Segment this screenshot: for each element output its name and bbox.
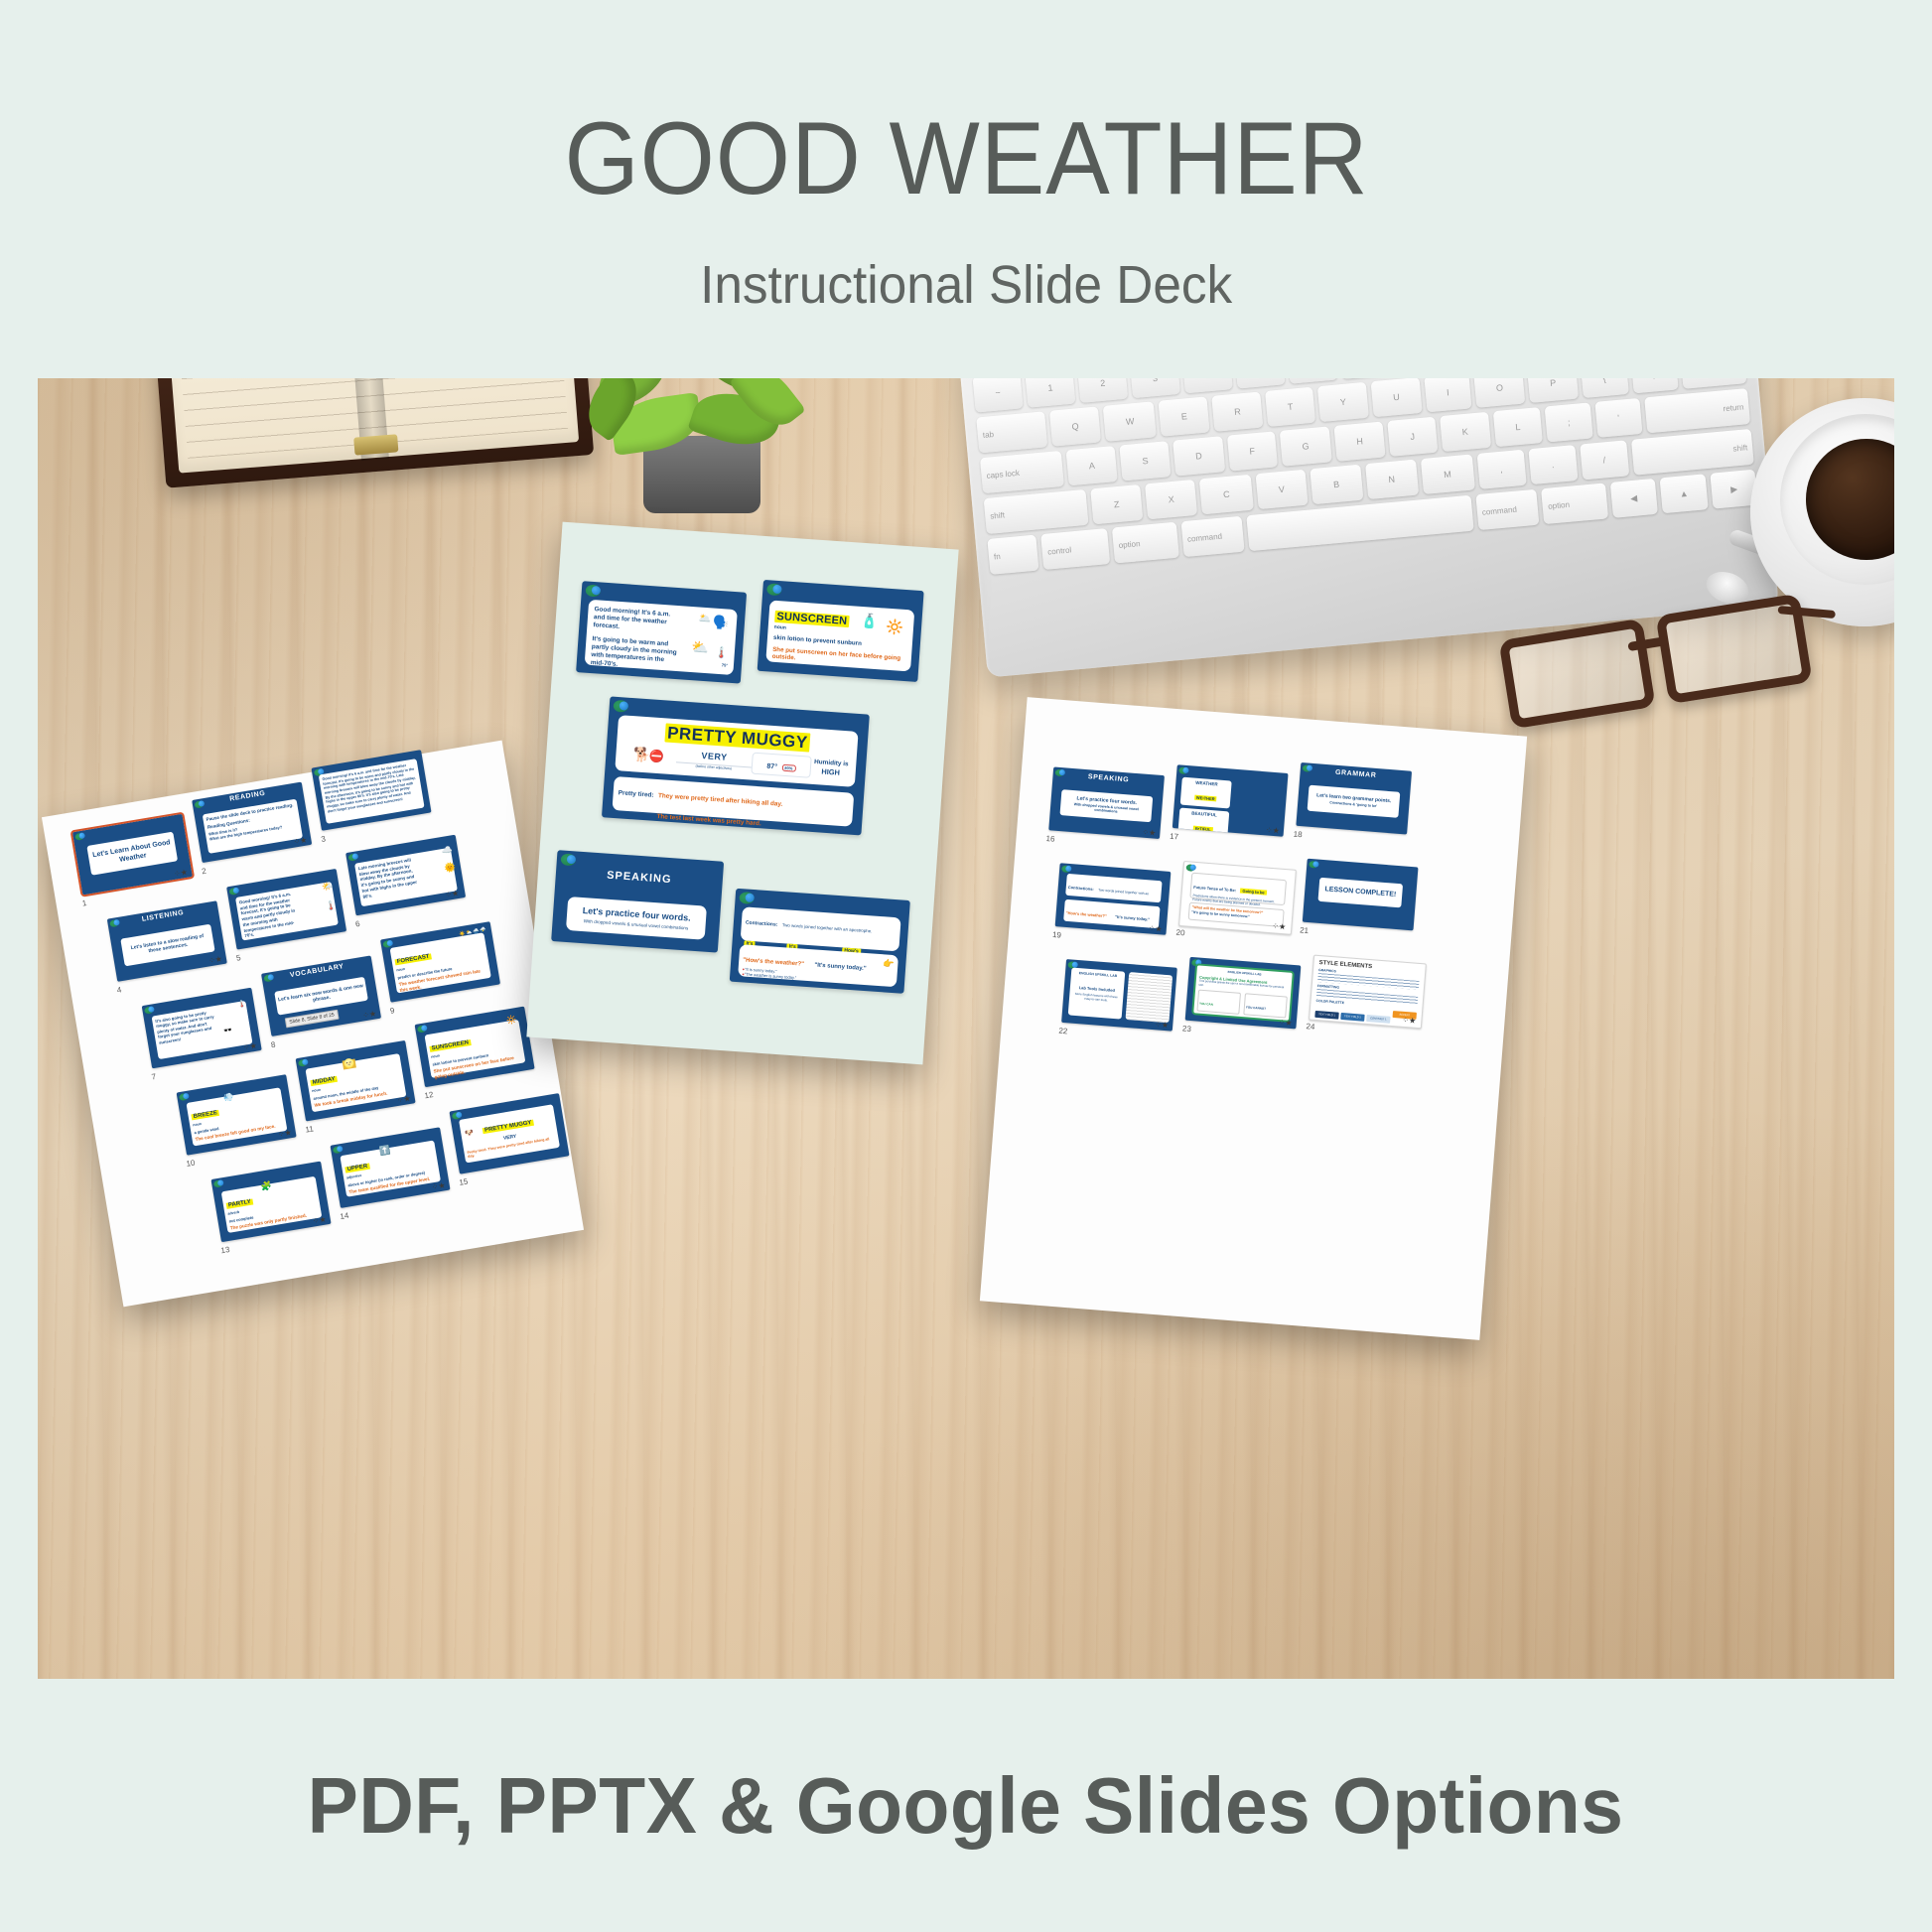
key-s[interactable]: S: [1120, 441, 1172, 481]
key-a[interactable]: A: [1066, 446, 1118, 485]
key-z[interactable]: Z: [1090, 484, 1143, 524]
thermometer-icon: 🌡️: [715, 646, 730, 660]
slide-number-1: 1: [81, 898, 87, 908]
logo-badge-icon: [452, 1111, 462, 1119]
no-sun-icon: 🔆: [886, 619, 904, 636]
slide-number-21: 21: [1300, 925, 1310, 935]
logo-badge-icon: [1061, 865, 1071, 873]
up-arrow-icon: ⬆️: [378, 1146, 391, 1157]
slide-22-star-icon: ⁘★: [1155, 1020, 1170, 1030]
slide-17-pron-2: B•TIFUL: [1193, 825, 1213, 832]
thumbnail-slide-4[interactable]: LISTENING Let's listen to a slow reading…: [107, 900, 227, 982]
key-j[interactable]: J: [1388, 417, 1438, 457]
logo-badge-icon: [561, 853, 577, 866]
slide-number-23: 23: [1182, 1024, 1192, 1034]
thumbnail-slide-5[interactable]: Good morning! It's 6 a.m. and time for t…: [226, 869, 346, 950]
slide-6-body: Late morning breezes will blow away the …: [357, 856, 423, 899]
slide-number-4: 4: [116, 985, 122, 995]
key-p[interactable]: P: [1527, 378, 1579, 403]
slide-number-17: 17: [1170, 832, 1179, 842]
logo-badge-icon: [213, 1179, 223, 1187]
thumbnail-slide-7[interactable]: It's also going to be pretty muggy, so m…: [142, 988, 262, 1069]
lotion-bottle-icon: 🧴: [860, 613, 879, 630]
pretty-muggy-temp: 87°: [766, 763, 777, 771]
pretty-hard-label: Pretty hard:: [617, 810, 652, 819]
page-header: GOOD WEATHER Instructional Slide Deck: [0, 0, 1932, 385]
weather-presenter-icon: 🗣️: [712, 614, 729, 630]
slide-number-24: 24: [1306, 1022, 1315, 1032]
slide-number-11: 11: [305, 1124, 315, 1134]
center-slide-contractions[interactable]: Contractions: Two words joined together …: [730, 889, 910, 994]
slide-number-15: 15: [459, 1176, 469, 1186]
slide-19-answer: "It's sunny today.": [1115, 914, 1150, 922]
printed-sheet-right[interactable]: SPEAKING Let's practice four words. With…: [980, 697, 1527, 1340]
slide-number-20: 20: [1175, 928, 1185, 938]
slide-number-22: 22: [1058, 1027, 1068, 1036]
slide-17-star-icon: ⁘★: [1266, 825, 1281, 835]
key-caps-lock[interactable]: caps lock: [980, 451, 1064, 493]
logo-badge-icon: [298, 1058, 308, 1066]
slide-19-question: "How's the weather?": [1066, 910, 1107, 918]
logo-badge-icon: [347, 853, 357, 861]
key-bracket-left[interactable]: {: [1581, 378, 1629, 398]
slide-number-13: 13: [220, 1245, 230, 1255]
cloud-icon: ☁️: [441, 845, 454, 856]
slide-7-body: It's also going to be pretty muggy, so m…: [155, 1009, 217, 1045]
slide-number-3: 3: [321, 834, 327, 844]
key-7[interactable]: 7: [1339, 378, 1390, 379]
contractions-answer: "It's sunny today.": [814, 962, 867, 972]
center-slide-forecast-script[interactable]: Good morning! It's 6 a.m. and time for t…: [576, 581, 747, 683]
key-shift-left[interactable]: shift: [984, 489, 1089, 534]
key-option-left[interactable]: option: [1112, 522, 1179, 564]
pretty-tired-label: Pretty tired:: [618, 789, 653, 798]
key-arrow-left-icon[interactable]: ◀: [1610, 479, 1658, 518]
thumbnail-slide-3[interactable]: Good morning! It's 6 a.m. and time for t…: [312, 750, 432, 831]
center-slide-pretty-muggy[interactable]: PRETTY MUGGY 🐕 ⛔ VERY (before other adje…: [602, 696, 870, 835]
key-h[interactable]: H: [1333, 421, 1385, 461]
key-command-right[interactable]: command: [1475, 489, 1540, 530]
key-control[interactable]: control: [1041, 528, 1111, 570]
slide-23-col1-heading: YOU CAN: [1199, 1002, 1213, 1007]
key-1[interactable]: 1: [1026, 378, 1076, 408]
sun-cloud-icon: ⛅: [691, 638, 710, 656]
key-n[interactable]: N: [1365, 460, 1419, 499]
key-d[interactable]: D: [1173, 436, 1224, 476]
pretty-muggy-humidity-pct: 80%: [781, 764, 795, 772]
slide-11-word: MIDDAY: [310, 1076, 338, 1086]
slide-14-word: UPPER: [345, 1164, 369, 1173]
logo-badge-icon: [1309, 860, 1318, 868]
logo-badge-icon: [1186, 864, 1196, 872]
thumbnail-slide-14[interactable]: UPPER adjective above or higher (in rank…: [331, 1127, 451, 1208]
pointing-hand-icon: 👉: [883, 958, 895, 970]
slide-number-7: 7: [151, 1072, 157, 1082]
key-m[interactable]: M: [1420, 454, 1474, 494]
key-backslash[interactable]: |: [1681, 378, 1747, 389]
dog-sunhat-icon: 🐶: [465, 1130, 475, 1138]
speaking-title: SPEAKING: [556, 866, 723, 890]
key-w[interactable]: W: [1103, 401, 1157, 441]
thumbnail-slide-10[interactable]: BREEZE noun a gentle wind The cool breez…: [177, 1074, 297, 1156]
slide-number-18: 18: [1293, 830, 1303, 840]
key-e[interactable]: E: [1159, 396, 1210, 436]
slide-16-title: SPEAKING: [1052, 770, 1164, 786]
slide-number-16: 16: [1045, 834, 1055, 844]
page-subtitle: Instructional Slide Deck: [700, 254, 1232, 316]
printed-sheet-left[interactable]: Let's Learn About Good Weather 1 ⁘★ READ…: [42, 741, 584, 1308]
slide-19-star-icon: ⁘★: [1148, 923, 1163, 933]
logo-badge-icon: [382, 939, 392, 947]
logo-badge-icon: [333, 1145, 343, 1153]
slide-17-word-1: WEATHER: [1183, 779, 1229, 788]
thermometer-icon: 🌡️: [325, 901, 338, 912]
logo-badge-icon: [417, 1025, 427, 1033]
key-command-left[interactable]: command: [1180, 516, 1245, 557]
slide-24-swatch-1: TEXT FIELD 1: [1314, 1011, 1338, 1020]
center-slide-speaking[interactable]: SPEAKING Let's practice four words. With…: [551, 850, 724, 952]
key-tab[interactable]: tab: [976, 411, 1047, 453]
no-entry-icon: ⛔: [648, 749, 664, 763]
slide-13-word: PARTLY: [226, 1198, 254, 1208]
no-sun-icon: 🔆: [506, 1016, 517, 1026]
key-4[interactable]: 4: [1182, 378, 1233, 393]
key-option-right[interactable]: option: [1542, 483, 1609, 524]
thumbnail-slide-21[interactable]: LESSON COMPLETE!: [1303, 859, 1419, 931]
thumbnail-slide-11[interactable]: MIDDAY noun around noon, the middle of t…: [296, 1040, 416, 1122]
potted-plant: [574, 378, 832, 517]
slide-17-pron-1: WE•THER: [1194, 794, 1217, 801]
contractions-heading: Contractions:: [746, 920, 778, 928]
thumbnail-slide-15[interactable]: PRETTY MUGGY VERY Pretty tired: They wer…: [449, 1093, 569, 1174]
slide-22-preview-image: [1126, 972, 1173, 1023]
key-r[interactable]: R: [1211, 392, 1263, 432]
thumbnail-slide-6[interactable]: Late morning breezes will blow away the …: [345, 835, 466, 916]
notebook-clasp: [353, 434, 398, 455]
key-fn[interactable]: fn: [987, 535, 1038, 575]
key-arrow-up-icon[interactable]: ▲: [1659, 474, 1709, 513]
key-b[interactable]: B: [1310, 465, 1363, 504]
workspace-photo: esc ☼ ☀ ▣ ◉ ⏪ ⏯ ⏩ 🔇 🔉 🔊 ~ 1 2 3 4 5 6 7 …: [38, 378, 1894, 1679]
slide-number-8: 8: [270, 1040, 276, 1050]
slide-number-9: 9: [389, 1006, 395, 1016]
page-title: GOOD WEATHER: [564, 107, 1368, 210]
slide-number-19: 19: [1052, 930, 1062, 940]
slide-24-swatch-2: TEXT FIELD 2: [1340, 1013, 1364, 1022]
slide-21-title: LESSON COMPLETE!: [1324, 886, 1396, 900]
key-t[interactable]: T: [1265, 387, 1315, 427]
forecast-line-1: Good morning! It's 6 a.m. and time for t…: [593, 606, 682, 635]
slide-10-word: BREEZE: [191, 1110, 219, 1121]
slide-number-10: 10: [186, 1159, 196, 1169]
key-2[interactable]: 2: [1077, 378, 1128, 403]
slide-22-title: ENGLISH UPSKILL LAB: [1074, 971, 1122, 979]
logo-badge-icon: [739, 892, 755, 904]
sun-icon: 🌞: [444, 863, 457, 874]
slide-4-body: Let's listen to a slow reading of these …: [123, 931, 211, 958]
slide-17-word-2: BEAUTIFUL: [1181, 810, 1227, 819]
pretty-hard-text: The test last week was pretty hard.: [656, 813, 761, 827]
key-semicolon[interactable]: ;: [1545, 402, 1592, 442]
key-l[interactable]: L: [1492, 407, 1543, 447]
slide-number-12: 12: [424, 1090, 434, 1100]
key-v[interactable]: V: [1255, 470, 1309, 509]
key-bracket-right[interactable]: }: [1630, 378, 1679, 393]
logo-badge-icon: [585, 584, 601, 597]
logo-badge-icon: [74, 832, 84, 840]
forecast-temp-label: 75°: [722, 662, 728, 667]
slide-3-body: Good morning! It's 6 a.m. and time for t…: [322, 762, 420, 814]
slide-23-star-icon: ⁘★: [1278, 1018, 1293, 1028]
logo-badge-icon: [228, 887, 238, 895]
slide-number-14: 14: [340, 1211, 349, 1221]
slide-19-heading: Contractions:: [1068, 885, 1094, 892]
key-6[interactable]: 6: [1287, 378, 1337, 384]
thumbnail-slide-8[interactable]: VOCABULARY Let's learn six new words & o…: [261, 955, 381, 1036]
key-c[interactable]: C: [1199, 475, 1253, 514]
slide-5-body: Good morning! It's 6 a.m. and time for t…: [238, 891, 304, 940]
logo-badge-icon: [179, 1092, 189, 1100]
breeze-icon: 💨: [223, 1093, 234, 1103]
weather-presenter-icon: 🌤️: [322, 882, 335, 893]
slide-8-body: Let's learn six new words & one new phra…: [277, 983, 365, 1010]
slide-number-5: 5: [235, 953, 241, 963]
page-footer: PDF, PPTX & Google Slides Options: [0, 1679, 1932, 1932]
slide-20-star-icon: ⁘★: [1272, 921, 1287, 931]
thumbnail-slide-9[interactable]: FORECAST noun predict or describe the fu…: [380, 921, 500, 1003]
slide-20-chip: Going to be: [1240, 889, 1267, 896]
key-quote[interactable]: ': [1594, 398, 1642, 438]
key-g[interactable]: G: [1280, 426, 1332, 466]
thumbnail-slide-13[interactable]: PARTLY adverb not complete The puzzle wa…: [211, 1162, 332, 1243]
temperature-gauge-icon: 🌡️: [237, 1001, 247, 1009]
slide-20-heading: Future Tense of To Be:: [1193, 885, 1236, 893]
key-y[interactable]: Y: [1317, 382, 1369, 422]
center-slide-sunscreen[interactable]: SUNSCREEN noun skin lotion to prevent su…: [758, 580, 924, 682]
key-o[interactable]: O: [1473, 378, 1526, 408]
notebook: [153, 378, 594, 488]
thumbnail-slide-2[interactable]: READING Pause the slide deck to practice…: [192, 782, 312, 864]
contractions-heading-sub: Two words joined together with an apostr…: [782, 922, 873, 933]
key-i[interactable]: I: [1424, 378, 1471, 412]
key-3[interactable]: 3: [1130, 378, 1180, 398]
logo-badge-icon: [1055, 768, 1065, 776]
thumbnail-slide-18[interactable]: GRAMMAR Let's learn two grammar points. …: [1296, 762, 1412, 835]
forecast-line-2: It's going to be warm and partly cloudy …: [590, 635, 679, 673]
thumbnail-slide-12[interactable]: SUNSCREEN noun skin lotion to prevent su…: [415, 1007, 535, 1088]
logo-badge-icon: [766, 583, 782, 596]
key-shift-right[interactable]: shift: [1631, 429, 1754, 476]
slide-18-title: GRAMMAR: [1301, 766, 1412, 782]
logo-badge-icon: [613, 700, 628, 713]
slide-16-star-icon: ⁘★: [1142, 828, 1157, 838]
puzzle-icon: 🧩: [260, 1181, 273, 1192]
slide-22-sub: More English lessons with these easy-to-…: [1072, 992, 1120, 1004]
key-u[interactable]: U: [1370, 378, 1422, 417]
key-slash[interactable]: /: [1580, 440, 1629, 480]
slide-number-2: 2: [201, 867, 207, 877]
key-5[interactable]: 5: [1234, 378, 1285, 389]
key-q[interactable]: Q: [1049, 406, 1102, 446]
printed-sheet-center[interactable]: Good morning! It's 6 a.m. and time for t…: [526, 522, 958, 1065]
slide-24-swatch-3: CONTRAST 1: [1366, 1015, 1390, 1024]
key-period[interactable]: .: [1528, 445, 1578, 484]
logo-badge-icon: [1303, 764, 1312, 772]
key-comma[interactable]: ,: [1476, 450, 1526, 489]
thumbnail-slide-1[interactable]: Let's Learn About Good Weather: [72, 814, 193, 896]
cloud-forecast-icon: 🌥️: [698, 613, 711, 624]
key-x[interactable]: X: [1145, 480, 1198, 519]
slide-24-star-icon: ⁘★: [1402, 1016, 1417, 1026]
sunglasses-icon: 🕶️: [223, 1028, 233, 1035]
slide-1-body: Let's Learn About Good Weather: [89, 838, 175, 870]
logo-badge-icon: [1178, 766, 1188, 774]
lens-left: [1498, 619, 1655, 730]
format-options-text: PDF, PPTX & Google Slides Options: [308, 1760, 1624, 1852]
key-return[interactable]: return: [1644, 388, 1750, 433]
key-tilde[interactable]: ~: [973, 378, 1024, 413]
slide-23-col2-heading: YOU CANNOT: [1246, 1006, 1266, 1012]
key-k[interactable]: K: [1440, 412, 1491, 452]
key-f[interactable]: F: [1226, 431, 1277, 471]
slide-number-6: 6: [354, 919, 360, 929]
logo-badge-icon: [144, 1006, 154, 1014]
